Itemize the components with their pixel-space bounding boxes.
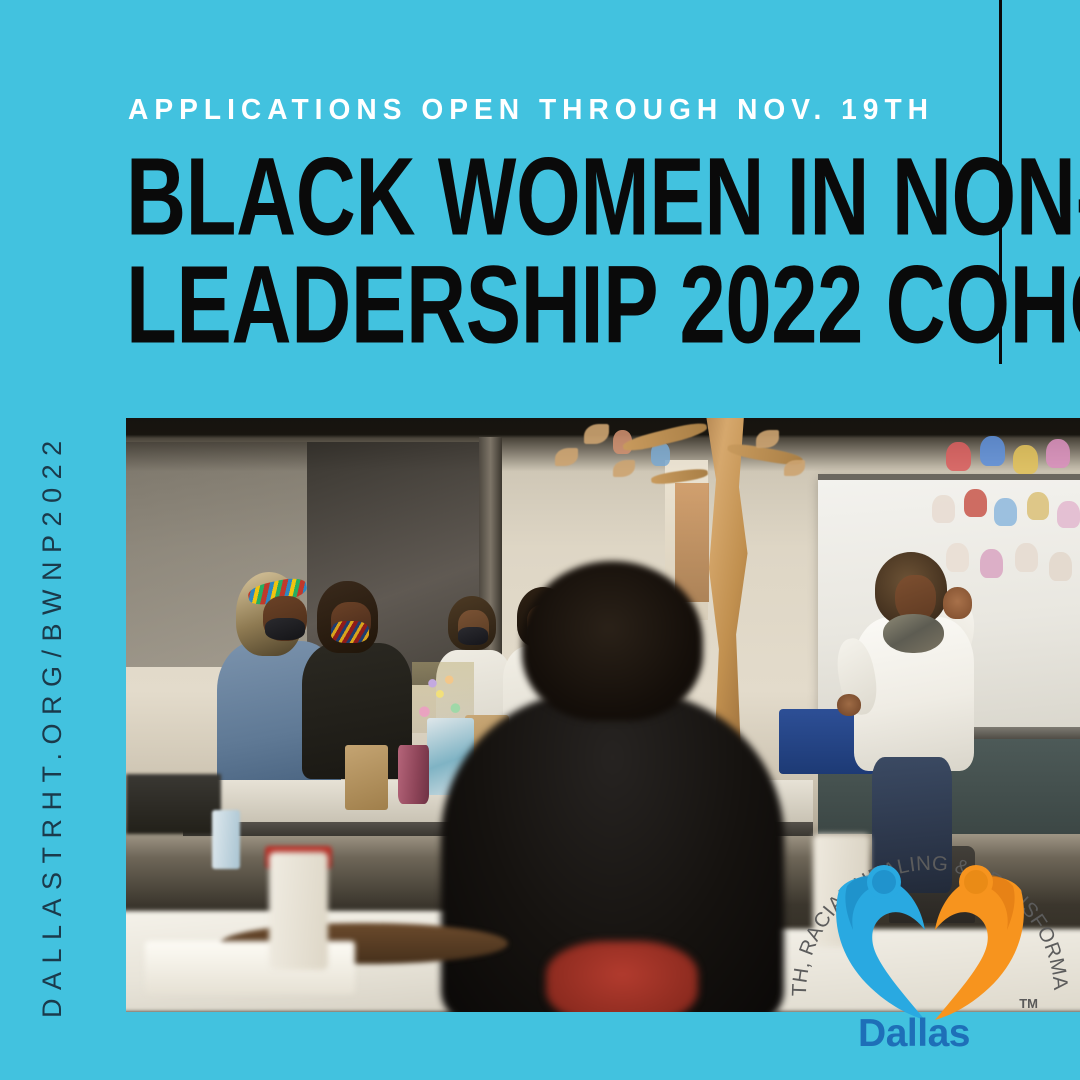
orange-door [675, 483, 709, 602]
speaker-hand-lower [837, 694, 861, 715]
paper-handprint-icon [980, 436, 1005, 466]
page-title: BLACK WOMEN IN NON-PROFIT LEADERSHIP 202… [126, 140, 1006, 356]
red-garment [546, 941, 699, 1012]
paper-handprint-icon [1027, 492, 1050, 519]
speaker-hand-raised [943, 587, 973, 619]
trademark-symbol: TM [1019, 996, 1038, 1011]
speaker-scarf [883, 614, 944, 653]
poster-canvas: APPLICATIONS OPEN THROUGH NOV. 19TH BLAC… [0, 0, 1080, 1080]
paper-handprint-icon [1013, 445, 1038, 475]
paper-handprint-icon [1057, 501, 1080, 528]
face-mask [265, 618, 305, 641]
vertical-url-label: DALLASTRHT.ORG/BWNP2022 [37, 432, 68, 1018]
organization-logo: TRUTH, RACIAL HEALING & TRANSFORMATION T… [780, 798, 1080, 1080]
paper-handprint-icon [980, 549, 1003, 579]
paper-handprint-icon [946, 442, 971, 472]
headline-line-2: LEADERSHIP 2022 COHORT [126, 248, 830, 362]
laptop [126, 774, 221, 833]
vertical-divider-rule [999, 0, 1002, 364]
coffee-cup [269, 852, 328, 971]
paper-handprint-icon [946, 543, 969, 573]
logo-city-label: Dallas [780, 1012, 1048, 1056]
paper-handprint-icon [994, 498, 1017, 525]
heart-figures-icon [825, 846, 1035, 1021]
pink-tumbler [398, 745, 429, 804]
paper-handprint-icon [932, 495, 955, 522]
paper-handprint-icon [1049, 552, 1072, 582]
headline-line-1: BLACK WOMEN IN NON-PROFIT [126, 140, 830, 254]
paper-handprint-icon [1015, 543, 1038, 573]
paper-handprint-icon [964, 489, 987, 516]
face-mask [458, 627, 488, 645]
kicker-text: APPLICATIONS OPEN THROUGH NOV. 19TH [128, 94, 934, 127]
water-bottle [212, 810, 241, 869]
face-mask [331, 621, 369, 642]
paper-gift-bag [345, 745, 388, 810]
paper-handprint-icon [1046, 439, 1071, 469]
foreground-person-hair [522, 561, 703, 721]
